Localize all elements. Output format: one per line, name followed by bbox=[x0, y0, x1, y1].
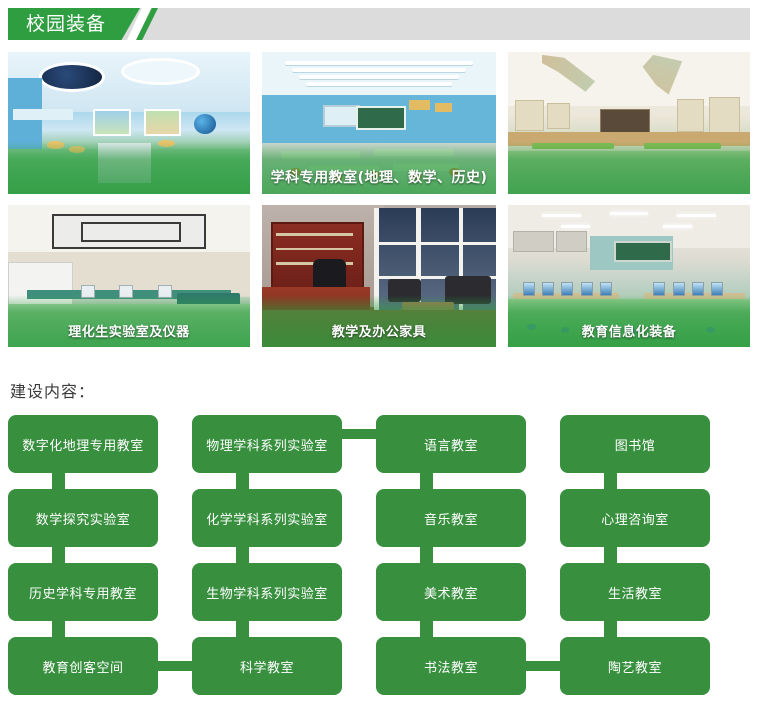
flow-node-ceramics-classroom[interactable]: 陶艺教室 bbox=[560, 637, 710, 695]
gallery-caption: 教育信息化装备 bbox=[508, 313, 750, 347]
flow-node-language-classroom[interactable]: 语言教室 bbox=[376, 415, 526, 473]
flow-connector-vertical bbox=[236, 547, 249, 563]
flow-connector-vertical bbox=[420, 621, 433, 637]
flow-connector-vertical bbox=[52, 621, 65, 637]
flow-connector-horizontal bbox=[526, 661, 562, 671]
gallery-item-geography[interactable] bbox=[8, 52, 250, 194]
flow-connector-horizontal bbox=[158, 661, 194, 671]
page-root: 校园装备 bbox=[0, 0, 758, 707]
flow-node-life-skills-classroom[interactable]: 生活教室 bbox=[560, 563, 710, 621]
construction-content-flow: 数字化地理专用教室 物理学科系列实验室 语言教室 图书馆 数学探究实验室 化学学… bbox=[8, 415, 750, 695]
flow-node-history-classroom[interactable]: 历史学科专用教室 bbox=[8, 563, 158, 621]
gallery-item-furniture[interactable]: 教学及办公家具 bbox=[262, 205, 496, 347]
gallery-item-subject-classrooms[interactable]: 学科专用教室(地理、数学、历史) bbox=[262, 52, 496, 194]
flow-node-counseling-room[interactable]: 心理咨询室 bbox=[560, 489, 710, 547]
flow-node-math-lab[interactable]: 数学探究实验室 bbox=[8, 489, 158, 547]
section-banner: 校园装备 bbox=[8, 8, 750, 40]
flow-connector-vertical bbox=[236, 621, 249, 637]
gallery-caption: 教学及办公家具 bbox=[262, 313, 496, 347]
flow-connector-vertical bbox=[420, 547, 433, 563]
flow-connector-vertical bbox=[604, 547, 617, 563]
gallery-row-1: 学科专用教室(地理、数学、历史) bbox=[8, 52, 750, 194]
section-title: 建设内容： bbox=[10, 378, 95, 402]
gallery-item-it-equipment[interactable]: 教育信息化装备 bbox=[508, 205, 750, 347]
flow-node-art-classroom[interactable]: 美术教室 bbox=[376, 563, 526, 621]
flow-node-chemistry-labs[interactable]: 化学学科系列实验室 bbox=[192, 489, 342, 547]
flow-node-physics-labs[interactable]: 物理学科系列实验室 bbox=[192, 415, 342, 473]
flow-connector-vertical bbox=[236, 473, 249, 489]
gallery-item-history[interactable] bbox=[508, 52, 750, 194]
flow-connector-vertical bbox=[52, 547, 65, 563]
gallery-item-science-lab[interactable]: 理化生实验室及仪器 bbox=[8, 205, 250, 347]
flow-connector-vertical bbox=[604, 621, 617, 637]
flow-node-music-classroom[interactable]: 音乐教室 bbox=[376, 489, 526, 547]
flow-connector-vertical bbox=[52, 473, 65, 489]
gallery-caption bbox=[8, 160, 250, 194]
flow-node-library[interactable]: 图书馆 bbox=[560, 415, 710, 473]
flow-connector-horizontal bbox=[342, 429, 378, 439]
page-title: 校园装备 bbox=[26, 8, 106, 40]
flow-node-science-classroom[interactable]: 科学教室 bbox=[192, 637, 342, 695]
gallery-caption: 学科专用教室(地理、数学、历史) bbox=[262, 160, 496, 194]
gallery-caption bbox=[508, 160, 750, 194]
flow-node-digital-geography[interactable]: 数字化地理专用教室 bbox=[8, 415, 158, 473]
gallery-caption: 理化生实验室及仪器 bbox=[8, 313, 250, 347]
gallery-row-2: 理化生实验室及仪器 bbox=[8, 205, 750, 347]
flow-node-biology-labs[interactable]: 生物学科系列实验室 bbox=[192, 563, 342, 621]
flow-node-calligraphy-classroom[interactable]: 书法教室 bbox=[376, 637, 526, 695]
flow-connector-vertical bbox=[420, 473, 433, 489]
flow-connector-vertical bbox=[604, 473, 617, 489]
image-gallery: 学科专用教室(地理、数学、历史) bbox=[8, 52, 750, 350]
flow-node-maker-space[interactable]: 教育创客空间 bbox=[8, 637, 158, 695]
